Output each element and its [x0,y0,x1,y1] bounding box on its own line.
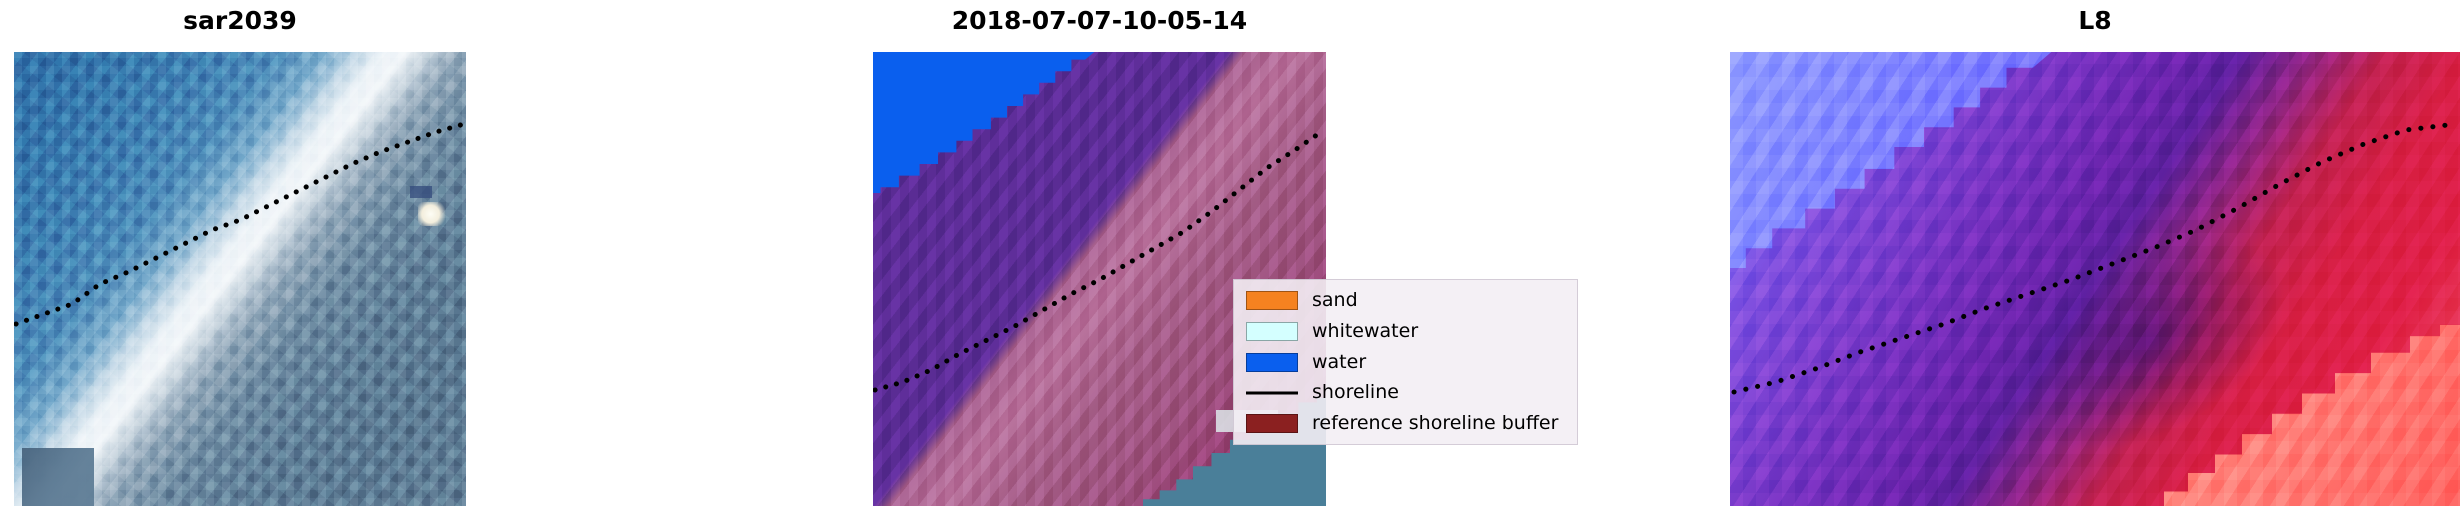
sar2039-bright-spot [418,202,446,226]
legend-item-sand[interactable]: sand [1246,286,1567,315]
sar2039-pixel-grid [14,52,466,506]
legend-label-whitewater: whitewater [1312,322,1418,341]
legend-label-reference-shoreline-buffer: reference shoreline buffer [1312,414,1558,433]
panel-title-l8: L8 [1730,6,2460,36]
legend-item-reference-shoreline-buffer[interactable]: reference shoreline buffer [1246,409,1567,438]
legend-label-sand: sand [1312,291,1358,310]
legend-label-shoreline: shoreline [1312,383,1399,402]
figure-canvas: sar2039 2018-07-07-10-05-14 L8 [0,0,2460,519]
l8-texture [1730,52,2460,506]
panel-sar2039[interactable] [14,52,466,506]
sand-color-swatch [1246,291,1298,310]
sar2039-dark-spot [410,186,432,198]
legend-item-whitewater[interactable]: whitewater [1246,317,1567,346]
sar2039-dark-patch [22,448,94,506]
sar2039-image [14,52,466,506]
panel-title-sar2039: sar2039 [14,6,466,36]
panel-l8[interactable] [1730,52,2460,506]
water-color-swatch [1246,353,1298,372]
legend-label-water: water [1312,353,1366,372]
legend-item-water[interactable]: water [1246,348,1567,377]
reference-buffer-color-swatch [1246,414,1298,433]
panel-title-classification: 2018-07-07-10-05-14 [873,6,1326,36]
legend-box[interactable]: sand whitewater water shoreline referenc… [1233,279,1578,445]
l8-image [1730,52,2460,506]
shoreline-line-icon [1246,383,1298,402]
whitewater-color-swatch [1246,322,1298,341]
legend-item-shoreline[interactable]: shoreline [1246,378,1567,407]
